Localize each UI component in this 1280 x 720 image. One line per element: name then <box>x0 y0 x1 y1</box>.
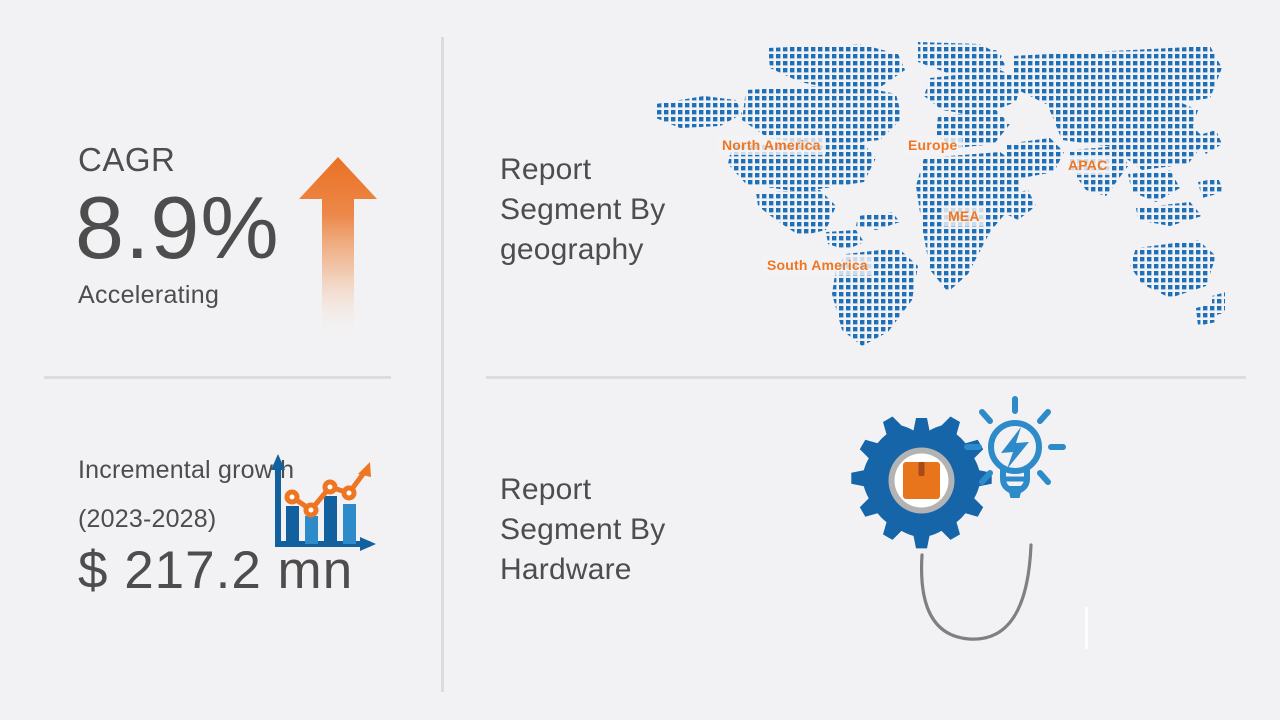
map-label-apac: APAC <box>1063 155 1112 175</box>
map-label-north-america: North America <box>717 135 826 155</box>
hardware-panel-title: Report Segment By Hardware <box>500 470 710 590</box>
map-label-mea: MEA <box>943 206 985 226</box>
bar-line-growth-chart-icon <box>258 452 378 560</box>
lightning-bolt-icon <box>1001 427 1029 469</box>
dotted-world-map-icon <box>650 40 1225 350</box>
map-label-south-america: South America <box>762 255 873 275</box>
left-horizontal-divider <box>44 376 391 379</box>
package-box-icon <box>903 462 940 499</box>
infographic-canvas: CAGR 8.9% Accelerating Incremental growt… <box>0 0 1280 720</box>
vertical-divider <box>441 37 444 692</box>
map-label-europe: Europe <box>903 135 962 155</box>
up-arrow-gradient-icon <box>296 155 380 340</box>
hardware-illustration <box>845 395 1095 660</box>
right-horizontal-divider <box>486 376 1246 379</box>
